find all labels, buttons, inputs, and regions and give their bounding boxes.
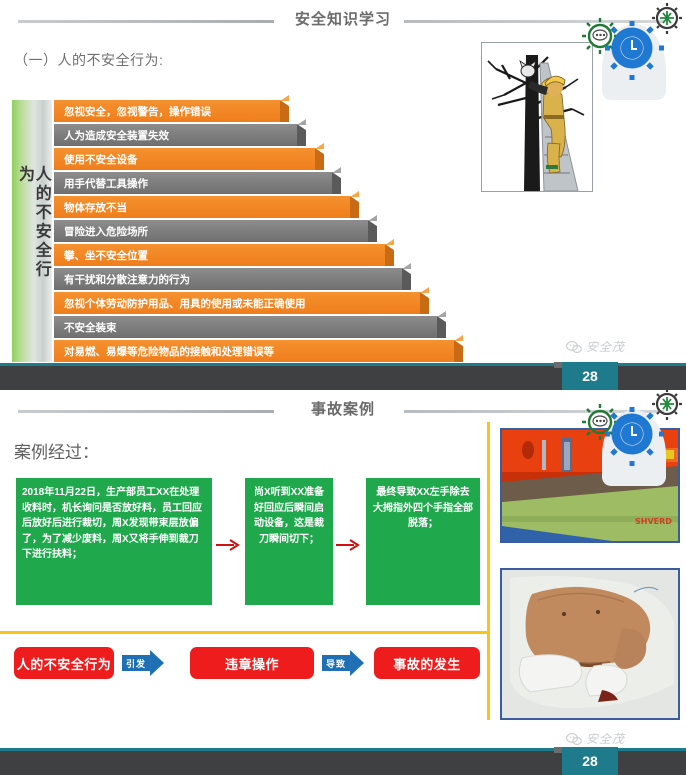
- step-top-face: [315, 143, 324, 149]
- step-label: 人为造成安全装置失效: [54, 124, 297, 146]
- case-box-step2: 尚X听到XX准备好回应后瞬间启动设备，这是裁刀瞬间切下；: [245, 478, 333, 605]
- staircase-step: 使用不安全设备: [54, 148, 315, 170]
- flow-connector-1: 引发: [122, 650, 164, 676]
- gear-clock-icon: [605, 21, 664, 80]
- step-side-face: [315, 148, 324, 170]
- step-side-face: [437, 316, 446, 338]
- step-top-face: [350, 191, 359, 197]
- divider-horizontal-line: [0, 631, 490, 634]
- slide2-gear-decoration: [578, 390, 686, 488]
- step-label: 使用不安全设备: [54, 148, 315, 170]
- step-side-face: [454, 340, 463, 362]
- step-top-face: [332, 167, 341, 173]
- staircase-step: 有干扰和分散注意力的行为: [54, 268, 402, 290]
- step-side-face: [350, 196, 359, 218]
- staircase-step: 忽视个体劳动防护用品、用具的使用或未能正确使用: [54, 292, 420, 314]
- step-side-face: [385, 244, 394, 266]
- slide-accident-case: 事故案例 案例经过： 2018年11月22日，生产部员工XX在处理收料时，机长询…: [0, 390, 686, 775]
- flow-node-1: 人的不安全行为: [14, 647, 114, 679]
- slide2-footer-bar: 28: [0, 751, 686, 775]
- flow-node-3: 事故的发生: [374, 647, 480, 679]
- page-number: 28: [582, 753, 598, 769]
- flow-connector-2-tip: [350, 650, 364, 676]
- staircase-spine: 人的不安全行为: [12, 100, 52, 362]
- slide1-gear-decoration: [578, 2, 686, 102]
- step-side-face: [420, 292, 429, 314]
- step-side-face: [280, 100, 289, 122]
- step-label: 物体存放不当: [54, 196, 350, 218]
- staircase-step: 用手代替工具操作: [54, 172, 332, 194]
- case-section-title: 案例经过：: [14, 438, 99, 463]
- staircase-step: 不安全装束: [54, 316, 437, 338]
- step-side-face: [368, 220, 377, 242]
- step-label: 忽视安全，忽视警告，操作错误: [54, 100, 280, 122]
- wechat-watermark: 安全茂: [566, 730, 625, 747]
- step-side-face: [402, 268, 411, 290]
- flow-connector-1-tip: [150, 650, 164, 676]
- step-side-face: [297, 124, 306, 146]
- staircase-spine-label: 人的不安全行为: [15, 166, 49, 297]
- staircase-step: 忽视安全，忽视警告，操作错误: [54, 100, 280, 122]
- divider-vertical-line: [487, 422, 490, 720]
- step-top-face: [385, 239, 394, 245]
- red-arrow-2-icon: [336, 538, 362, 552]
- injured-hand-photo: [500, 568, 680, 720]
- step-label: 攀、坐不安全位置: [54, 244, 385, 266]
- page-number-badge: 28: [562, 747, 618, 775]
- header-rule-left: [18, 20, 274, 23]
- step-label: 有干扰和分散注意力的行为: [54, 268, 402, 290]
- staircase-step: 冒险进入危险场所: [54, 220, 368, 242]
- step-side-face: [332, 172, 341, 194]
- step-label: 用手代替工具操作: [54, 172, 332, 194]
- flow-connector-2: 导致: [322, 650, 364, 676]
- case-box-step1: 2018年11月22日，生产部员工XX在处理收料时，机长询问是否放好料，员工回应…: [16, 478, 212, 605]
- gears-group: [578, 2, 686, 102]
- step-top-face: [280, 95, 289, 101]
- tree-climber-photo: [481, 42, 593, 192]
- step-label: 忽视个体劳动防护用品、用具的使用或未能正确使用: [54, 292, 420, 314]
- wechat-icon: [566, 732, 582, 746]
- watermark-label: 安全茂: [586, 730, 625, 747]
- slide2-title: 事故案例: [311, 398, 375, 419]
- page-number: 28: [582, 368, 598, 384]
- badge-nub: [554, 362, 562, 368]
- staircase-step: 物体存放不当: [54, 196, 350, 218]
- red-arrow-1-icon: [216, 538, 242, 552]
- flow-connector-2-label: 导致: [322, 655, 350, 671]
- tree-climber-illustration: [482, 43, 592, 191]
- watermark-label: 安全茂: [586, 338, 625, 355]
- step-top-face: [297, 119, 306, 125]
- slide1-subtitle: （一）人的不安全行为:: [14, 50, 163, 70]
- slide1-footer-bar: 28: [0, 366, 686, 390]
- unsafe-behavior-staircase: 人的不安全行为 忽视安全，忽视警告，操作错误 人为造成安全装置失效 使用不安全设…: [12, 100, 432, 362]
- gears-group: [578, 390, 686, 488]
- page-number-badge: 28: [562, 362, 618, 390]
- wechat-watermark: 安全茂: [566, 338, 625, 355]
- badge-nub: [554, 747, 562, 753]
- step-top-face: [420, 287, 429, 293]
- step-label: 冒险进入危险场所: [54, 220, 368, 242]
- step-label: 不安全装束: [54, 316, 437, 338]
- header-rule-left: [18, 410, 274, 413]
- svg-text:SHVERD: SHVERD: [635, 517, 672, 526]
- step-top-face: [402, 263, 411, 269]
- step-top-face: [368, 215, 377, 221]
- step-top-face: [437, 311, 446, 317]
- slide-safety-knowledge: 安全知识学习 （一）人的不安全行为: 人的不安全行为 忽视安全，忽视警告，操作错…: [0, 0, 686, 390]
- wechat-icon: [566, 340, 582, 354]
- flow-connector-1-label: 引发: [122, 655, 150, 671]
- flow-node-2: 违章操作: [190, 647, 314, 679]
- step-top-face: [454, 335, 463, 341]
- step-label: 对易燃、易爆等危险物品的接触和处理错误等: [54, 340, 454, 362]
- injured-hand-illustration: [502, 570, 678, 718]
- staircase-step: 攀、坐不安全位置: [54, 244, 385, 266]
- gear-clock-icon: [605, 407, 664, 466]
- staircase-step: 人为造成安全装置失效: [54, 124, 297, 146]
- case-box-step3: 最终导致XX左手除去大拇指外四个手指全部脱落；: [366, 478, 480, 605]
- staircase-step: 对易燃、易爆等危险物品的接触和处理错误等: [54, 340, 454, 362]
- slide1-title: 安全知识学习: [295, 8, 391, 29]
